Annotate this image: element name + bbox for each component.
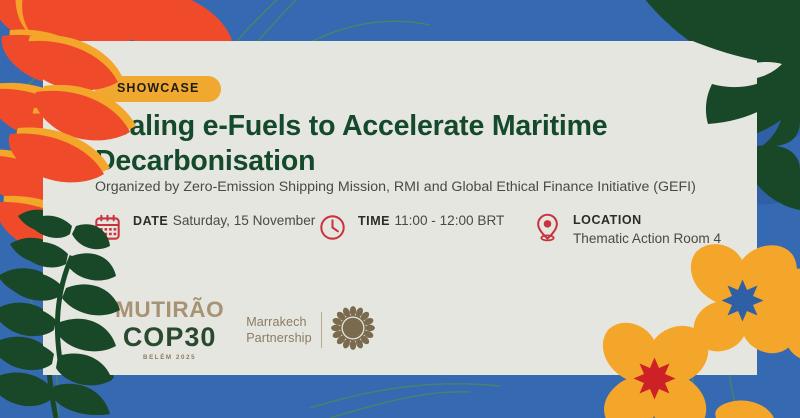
showcase-badge: SHOWCASE bbox=[95, 76, 221, 102]
cop30-logo: MUTIRÃO COP30 BELÉM 2025 bbox=[115, 299, 224, 361]
card-content: SHOWCASE Scaling e-Fuels to Accelerate M… bbox=[43, 41, 757, 375]
meta-label-time: TIME bbox=[358, 214, 390, 228]
logo-divider bbox=[321, 312, 322, 348]
marrakech-partnership-logo: Marrakech Partnership bbox=[242, 306, 375, 355]
cop30-logo-cop30: COP30 bbox=[123, 323, 217, 351]
marrakech-line-2: Partnership bbox=[246, 331, 312, 345]
meta-label-date: DATE bbox=[133, 214, 168, 228]
clock-icon bbox=[316, 210, 348, 244]
meta-item-time: TIME 11:00 - 12:00 BRT bbox=[316, 209, 531, 244]
meta-item-date: DATE Saturday, 15 November bbox=[91, 209, 316, 244]
cop30-logo-belem: BELÉM 2025 bbox=[143, 355, 196, 361]
map-pin-icon bbox=[531, 210, 563, 244]
marrakech-partnership-text: Marrakech Partnership bbox=[246, 314, 312, 346]
flower-right-edge bbox=[776, 274, 800, 361]
global-climate-action-seal: Global Climate Action bbox=[331, 306, 375, 355]
meta-value-date: Saturday, 15 November bbox=[173, 213, 316, 228]
meta-value-time: 11:00 - 12:00 BRT bbox=[395, 213, 505, 228]
event-card-graphic: SHOWCASE Scaling e-Fuels to Accelerate M… bbox=[0, 0, 800, 418]
event-organizer: Organized by Zero-Emission Shipping Miss… bbox=[95, 178, 745, 196]
event-title: Scaling e-Fuels to Accelerate Maritime D… bbox=[95, 109, 715, 180]
logo-strip: MUTIRÃO COP30 BELÉM 2025 Marrakech Partn… bbox=[115, 299, 375, 361]
meta-label-location: LOCATION bbox=[573, 213, 642, 227]
content-card: SHOWCASE Scaling e-Fuels to Accelerate M… bbox=[43, 41, 757, 375]
seal-line-3: Action bbox=[348, 330, 358, 334]
marrakech-line-1: Marrakech bbox=[246, 315, 306, 329]
event-meta-row: DATE Saturday, 15 November TIME bbox=[91, 209, 741, 248]
meta-value-location: Thematic Action Room 4 bbox=[573, 231, 721, 246]
meta-item-location: LOCATION Thematic Action Room 4 bbox=[531, 209, 741, 248]
cop30-logo-mutirao: MUTIRÃO bbox=[115, 299, 224, 322]
calendar-icon bbox=[91, 210, 123, 244]
